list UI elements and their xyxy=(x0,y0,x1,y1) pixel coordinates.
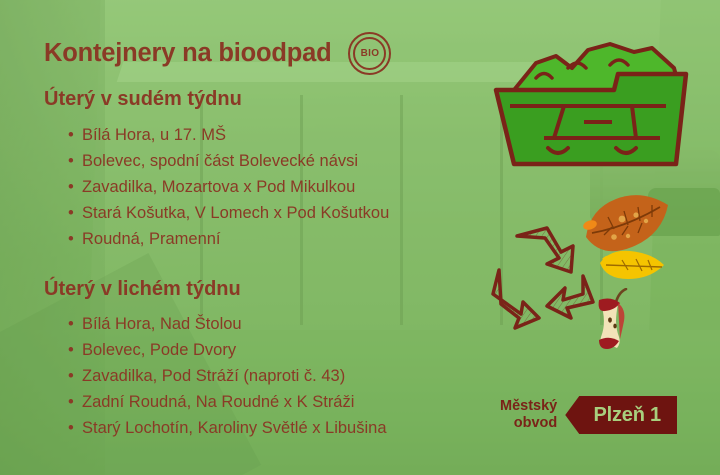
autumn-leaves-icon xyxy=(578,193,676,289)
badge-label: BIO xyxy=(348,32,391,75)
logo-line-1: Městský xyxy=(500,398,557,415)
list-item: Zavadilka, Pod Stráží (naproti č. 43) xyxy=(68,363,387,389)
list-item: Zadní Roudná, Na Roudné x K Stráži xyxy=(68,389,387,415)
list-item: Zavadilka, Mozartova x Pod Mikulkou xyxy=(68,174,389,200)
page-title: Kontejnery na bioodpad xyxy=(44,39,331,68)
poster: Kontejnery na bioodpad BIO Úterý v sudém… xyxy=(0,0,720,475)
list-item: Bílá Hora, Nad Štolou xyxy=(68,311,387,337)
list-item: Bolevec, Pode Dvory xyxy=(68,337,387,363)
banner-label: Plzeň 1 xyxy=(565,396,677,434)
section-heading-odd-week: Úterý v lichém týdnu xyxy=(44,278,241,301)
logo-line-2: obvod xyxy=(500,415,557,432)
section-heading-even-week: Úterý v sudém týdnu xyxy=(44,88,242,111)
list-item: Starý Lochotín, Karoliny Světlé x Libuši… xyxy=(68,415,387,441)
list-item: Bolevec, spodní část Bolevecké návsi xyxy=(68,148,389,174)
list-item: Roudná, Pramenní xyxy=(68,226,389,252)
location-list-odd-week: Bílá Hora, Nad Štolou Bolevec, Pode Dvor… xyxy=(68,311,387,441)
bio-container-icon xyxy=(484,38,706,183)
apple-core-icon xyxy=(586,288,644,350)
logo-banner: Plzeň 1 xyxy=(565,396,677,434)
municipality-logo: Městský obvod Plzeň 1 xyxy=(500,396,677,434)
logo-words: Městský obvod xyxy=(500,398,565,432)
list-item: Stará Košutka, V Lomech x Pod Košutkou xyxy=(68,200,389,226)
title-row: Kontejnery na bioodpad BIO xyxy=(44,32,391,75)
list-item: Bílá Hora, u 17. MŠ xyxy=(68,122,389,148)
bio-badge-icon: BIO xyxy=(348,32,391,75)
location-list-even-week: Bílá Hora, u 17. MŠ Bolevec, spodní část… xyxy=(68,122,389,252)
